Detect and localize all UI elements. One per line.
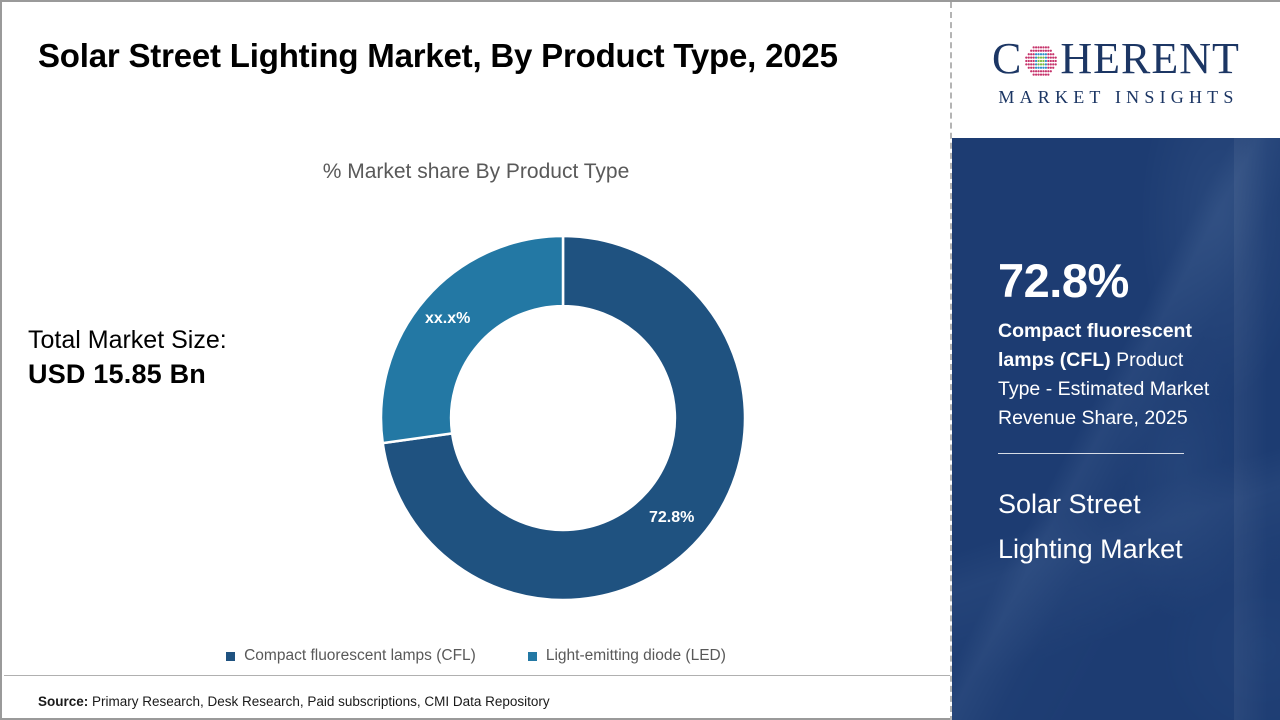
panel-stat-value: 72.8% bbox=[998, 256, 1280, 305]
brand-tagline: MARKET INSIGHTS bbox=[993, 87, 1238, 108]
brand-wordmark: C HERENT bbox=[992, 37, 1240, 81]
page-title: Solar Street Lighting Market, By Product… bbox=[38, 32, 878, 81]
brand-name-part2: HERENT bbox=[1060, 37, 1240, 81]
panel-stat-description: Compact fluorescent lamps (CFL) Product … bbox=[998, 317, 1228, 432]
donut-chart: xx.x% 72.8% bbox=[377, 232, 749, 604]
legend-label-led: Light-emitting diode (LED) bbox=[546, 647, 726, 665]
chart-subtitle: % Market share By Product Type bbox=[2, 160, 950, 184]
total-market-size: Total Market Size: USD 15.85 Bn bbox=[28, 324, 227, 393]
chart-legend: Compact fluorescent lamps (CFL) Light-em… bbox=[2, 647, 950, 665]
source-divider bbox=[4, 675, 950, 676]
legend-swatch-led bbox=[528, 652, 537, 661]
highlight-panel: 72.8% Compact fluorescent lamps (CFL) Pr… bbox=[952, 138, 1280, 720]
total-market-size-label: Total Market Size: bbox=[28, 324, 227, 357]
infographic-root: Solar Street Lighting Market, By Product… bbox=[0, 0, 1280, 720]
left-content-column: Solar Street Lighting Market, By Product… bbox=[2, 2, 950, 718]
legend-swatch-cfl bbox=[226, 652, 235, 661]
source-note: Source: Primary Research, Desk Research,… bbox=[38, 694, 550, 709]
source-text: Primary Research, Desk Research, Paid su… bbox=[88, 694, 549, 709]
brand-logo[interactable]: C HERENT MARKET INSIGHTS bbox=[952, 2, 1280, 138]
legend-item-led[interactable]: Light-emitting diode (LED) bbox=[528, 647, 726, 665]
panel-divider bbox=[998, 453, 1184, 454]
total-market-size-value: USD 15.85 Bn bbox=[28, 357, 227, 393]
panel-market-name: Solar Street Lighting Market bbox=[998, 482, 1218, 572]
brand-name-part1: C bbox=[992, 37, 1022, 81]
donut-chart-svg bbox=[377, 232, 749, 604]
right-sidebar: C HERENT MARKET INSIGHTS 72.8% Compact f… bbox=[952, 2, 1280, 720]
source-label: Source: bbox=[38, 694, 88, 709]
dotted-globe-icon bbox=[1023, 43, 1059, 79]
legend-item-cfl[interactable]: Compact fluorescent lamps (CFL) bbox=[226, 647, 476, 665]
highlight-panel-content: 72.8% Compact fluorescent lamps (CFL) Pr… bbox=[952, 256, 1280, 572]
legend-label-cfl: Compact fluorescent lamps (CFL) bbox=[244, 647, 476, 665]
donut-slice-led[interactable] bbox=[381, 236, 563, 443]
